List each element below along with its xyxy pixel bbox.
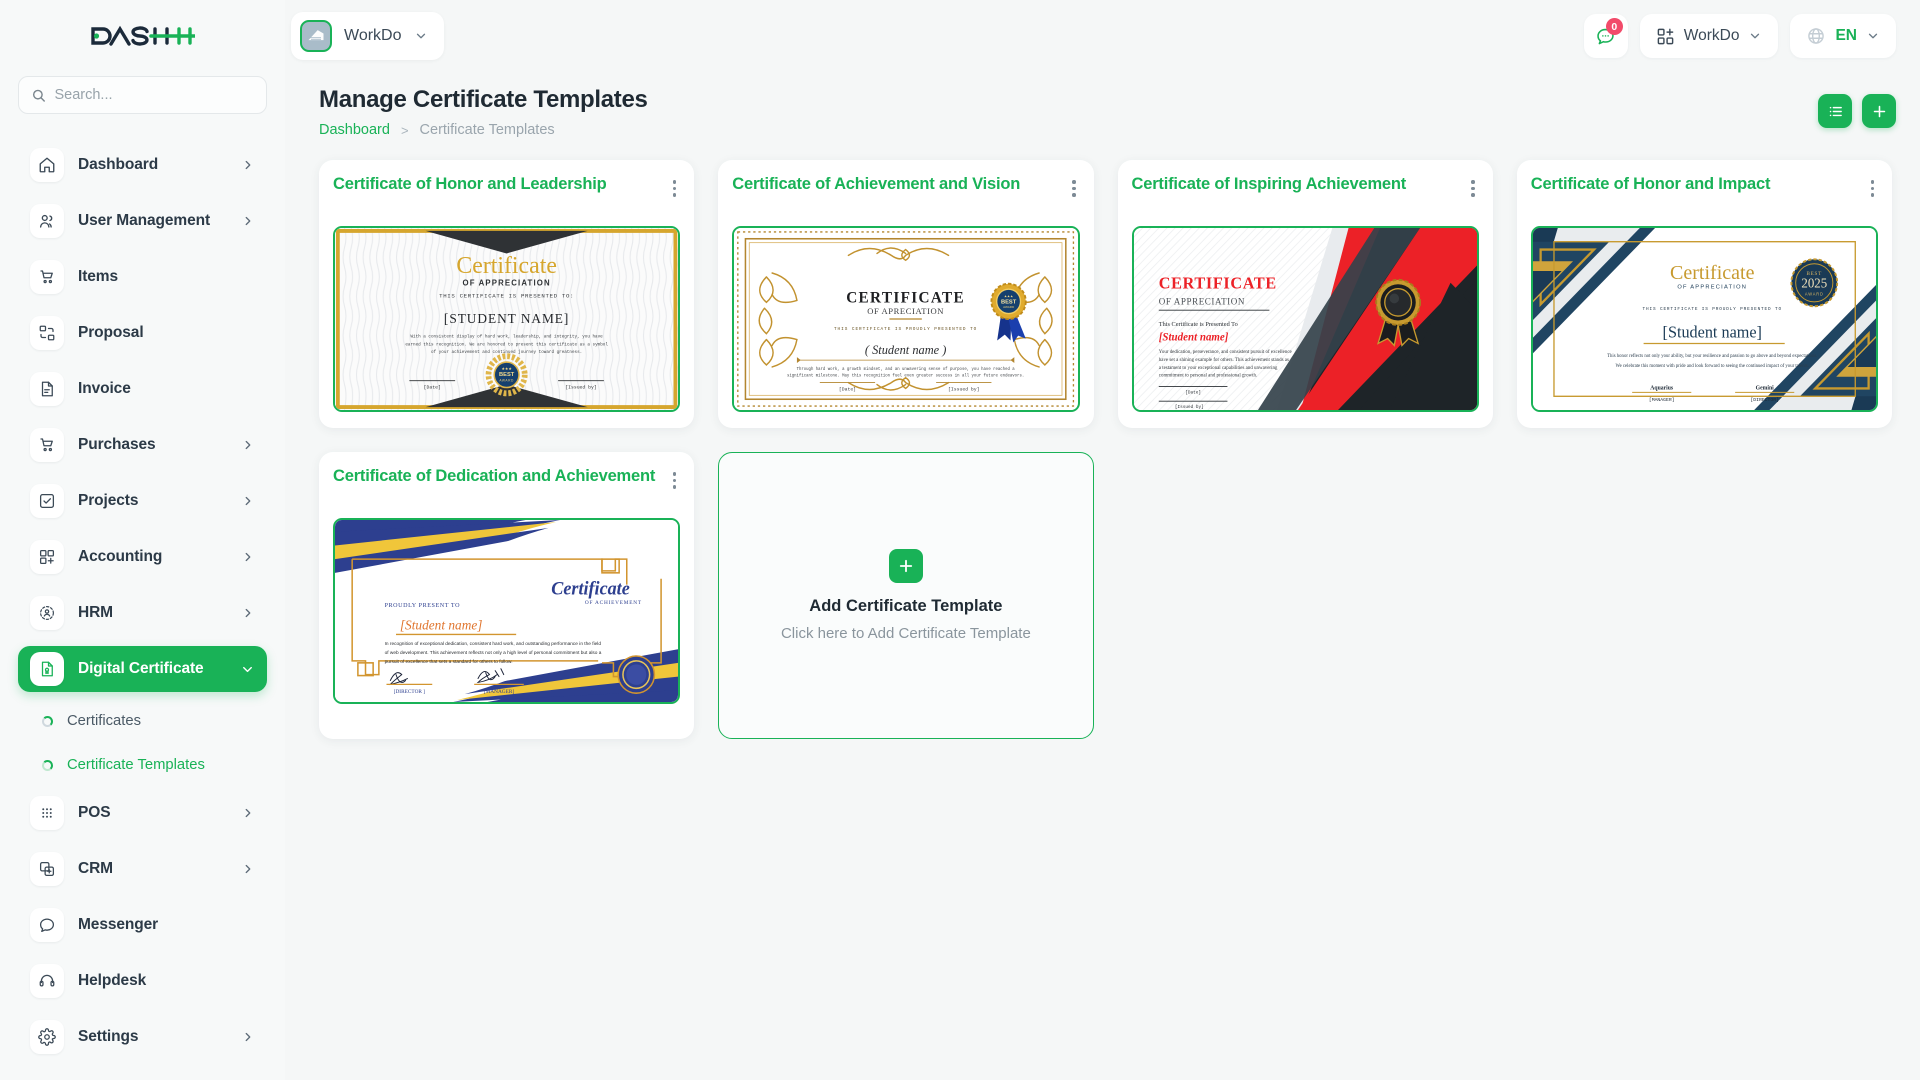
svg-text:[Issued by]: [Issued by] bbox=[565, 384, 596, 390]
page-header: Manage Certificate Templates Dashboard >… bbox=[285, 72, 1920, 138]
svg-text:CERTIFICATE: CERTIFICATE bbox=[846, 289, 965, 306]
svg-text:[Student name]: [Student name] bbox=[400, 617, 483, 632]
company-switcher[interactable]: WorkDo bbox=[291, 12, 444, 60]
svg-text:[Date]: [Date] bbox=[424, 384, 441, 390]
chevron-down-icon bbox=[1866, 29, 1880, 43]
sidebar-item-user-management[interactable]: User Management bbox=[18, 198, 267, 244]
sidebar-item-messenger[interactable]: Messenger bbox=[18, 902, 267, 948]
svg-text:of web development. This achie: of web development. This achievement ref… bbox=[385, 650, 602, 656]
chevron-right-icon bbox=[241, 438, 255, 452]
svg-text:of your achievement and contin: of your achievement and continued journe… bbox=[431, 350, 582, 355]
sidebar-item-accounting[interactable]: Accounting bbox=[18, 534, 267, 580]
svg-text:pursuit of excellence that set: pursuit of excellence that sets a standa… bbox=[385, 659, 513, 665]
company-avatar-icon bbox=[300, 20, 332, 52]
svg-text:With a consistent display of h: With a consistent display of hard work, … bbox=[410, 335, 603, 340]
sidebar-item-label: Purchases bbox=[78, 436, 156, 454]
svg-text:2025: 2025 bbox=[1801, 276, 1827, 291]
sidebar-item-hrm[interactable]: HRM bbox=[18, 590, 267, 636]
svg-text:BEST: BEST bbox=[499, 372, 515, 378]
add-card-subtitle: Click here to Add Certificate Template bbox=[781, 625, 1031, 642]
sidebar-item-digital-certificate[interactable]: Digital Certificate bbox=[18, 646, 267, 692]
svg-text:[STUDENT NAME]: [STUDENT NAME] bbox=[444, 311, 569, 326]
search-box[interactable] bbox=[18, 76, 267, 114]
sidebar-item-crm[interactable]: CRM bbox=[18, 846, 267, 892]
svg-text:commitment to personal and pro: commitment to personal and professional … bbox=[1158, 374, 1256, 379]
svg-text:AWARD: AWARD bbox=[1003, 305, 1015, 309]
company-name: WorkDo bbox=[344, 27, 402, 45]
users-icon bbox=[30, 204, 64, 238]
chevron-down-icon bbox=[240, 662, 255, 677]
svg-text:OF APPRECIATION: OF APPRECIATION bbox=[462, 279, 550, 288]
sidebar-item-purchases[interactable]: Purchases bbox=[18, 422, 267, 468]
add-button[interactable] bbox=[1862, 94, 1896, 128]
svg-text:THIS CERTIFICATE IS PROUDLY PR: THIS CERTIFICATE IS PROUDLY PRESENTED TO bbox=[1642, 306, 1781, 312]
certificate-artwork-dedication-achievement: Certificate OF ACHIEVEMENT PROUDLY PRESE… bbox=[335, 520, 678, 702]
card-title: Certificate of Achievement and Vision bbox=[732, 174, 1060, 195]
sidebar-item-proposal[interactable]: Proposal bbox=[18, 310, 267, 356]
page-title: Manage Certificate Templates bbox=[319, 86, 648, 114]
svg-text:★★★: ★★★ bbox=[501, 367, 512, 371]
dots-grid-icon bbox=[30, 796, 64, 830]
hrm-icon bbox=[30, 596, 64, 630]
chevron-down-icon bbox=[414, 29, 428, 43]
certificate-preview[interactable]: Certificate OF ACHIEVEMENT PROUDLY PRESE… bbox=[333, 518, 680, 704]
svg-text:( Student name ): ( Student name ) bbox=[865, 343, 947, 357]
cart-icon bbox=[30, 428, 64, 462]
certificate-template-card[interactable]: Certificate of Honor and Impact bbox=[1517, 160, 1892, 428]
card-menu-button[interactable] bbox=[1867, 174, 1879, 203]
card-header: Certificate of Dedication and Achievemen… bbox=[333, 466, 680, 508]
messages-button[interactable]: 0 bbox=[1584, 14, 1628, 58]
sidebar-item-items[interactable]: Items bbox=[18, 254, 267, 300]
sidebar-subitem-certificates[interactable]: Certificates bbox=[18, 702, 267, 740]
svg-text:In recognition of exceptional: In recognition of exceptional dedication… bbox=[385, 641, 602, 647]
svg-text:CERTIFICATE: CERTIFICATE bbox=[1158, 273, 1276, 292]
proposal-icon bbox=[30, 316, 64, 350]
certificate-template-card[interactable]: Certificate of Inspiring Achievement bbox=[1118, 160, 1493, 428]
topbar: WorkDo 0 WorkDo bbox=[285, 0, 1920, 72]
card-header: Certificate of Achievement and Vision bbox=[732, 174, 1079, 216]
chevron-right-icon bbox=[241, 214, 255, 228]
certificate-artwork-inspiring-achievement: CERTIFICATE OF APPRECIATION This Certifi… bbox=[1134, 228, 1477, 410]
svg-text:[DIRECTOR ]: [DIRECTOR ] bbox=[394, 689, 426, 695]
svg-text:Gemini: Gemini bbox=[1755, 385, 1773, 391]
svg-text:Certificate: Certificate bbox=[456, 252, 557, 279]
sidebar-nav: Dashboard User Management Items bbox=[18, 142, 267, 1070]
sidebar-item-label: Proposal bbox=[78, 324, 144, 342]
svg-text:Certificate: Certificate bbox=[551, 578, 629, 598]
svg-text:AWARD: AWARD bbox=[1805, 291, 1824, 296]
svg-text:PROUDLY PRESENT TO: PROUDLY PRESENT TO bbox=[385, 602, 460, 609]
globe-icon bbox=[1806, 26, 1826, 46]
svg-text:AWARD: AWARD bbox=[499, 379, 514, 383]
breadcrumb-current: Certificate Templates bbox=[420, 122, 555, 138]
svg-text:[MANAGER]: [MANAGER] bbox=[484, 689, 515, 695]
sidebar-item-label: POS bbox=[78, 804, 110, 822]
svg-text:[Student name]: [Student name] bbox=[1662, 322, 1761, 341]
sidebar-item-invoice[interactable]: Invoice bbox=[18, 366, 267, 412]
svg-text:THIS CERTIFICATE IS PROUDLY PR: THIS CERTIFICATE IS PROUDLY PRESENTED TO bbox=[834, 326, 977, 332]
certificate-template-card[interactable]: Certificate of Achievement and Vision bbox=[718, 160, 1093, 428]
chevron-down-icon bbox=[1748, 29, 1762, 43]
bullet-icon bbox=[42, 716, 53, 727]
sidebar-item-pos[interactable]: POS bbox=[18, 790, 267, 836]
sidebar-item-projects[interactable]: Projects bbox=[18, 478, 267, 524]
certificate-artwork-achievement-vision: CERTIFICATE OF APRECIATION THIS CERTIFIC… bbox=[734, 228, 1077, 410]
card-title: Certificate of Honor and Impact bbox=[1531, 174, 1859, 195]
sidebar-item-label: Items bbox=[78, 268, 118, 286]
sidebar-subitem-certificate-templates[interactable]: Certificate Templates bbox=[18, 746, 267, 784]
svg-text:Your dedication, perseverance,: Your dedication, perseverance, and consi… bbox=[1158, 350, 1292, 355]
plus-icon bbox=[889, 549, 923, 583]
sidebar-item-label: Dashboard bbox=[78, 156, 158, 174]
language-switcher-button[interactable]: EN bbox=[1790, 14, 1896, 58]
svg-text:This honor reflects not only y: This honor reflects not only your abilit… bbox=[1607, 354, 1817, 359]
card-title: Certificate of Honor and Leadership bbox=[333, 174, 661, 195]
svg-text:a testament to your exceptiona: a testament to your exceptional capabili… bbox=[1158, 366, 1277, 371]
list-view-button[interactable] bbox=[1818, 94, 1852, 128]
svg-text:Certificate: Certificate bbox=[1670, 262, 1754, 284]
sidebar: Dashboard User Management Items bbox=[0, 0, 285, 1080]
sidebar-item-label: Accounting bbox=[78, 548, 162, 566]
add-card-title: Add Certificate Template bbox=[809, 597, 1002, 616]
page-header-text: Manage Certificate Templates Dashboard >… bbox=[319, 86, 648, 138]
card-menu-button[interactable] bbox=[669, 174, 681, 203]
bullet-icon bbox=[42, 760, 53, 771]
crm-icon bbox=[30, 852, 64, 886]
svg-text:[MANAGER]: [MANAGER] bbox=[1649, 397, 1675, 403]
chevron-right-icon bbox=[241, 1030, 255, 1044]
svg-text:[Date]: [Date] bbox=[1185, 389, 1201, 395]
card-header: Certificate of Honor and Leadership bbox=[333, 174, 680, 216]
card-menu-button[interactable] bbox=[669, 466, 681, 495]
card-menu-button[interactable] bbox=[1467, 174, 1479, 203]
add-certificate-template-card[interactable]: Add Certificate Template Click here to A… bbox=[718, 452, 1093, 739]
certificate-icon bbox=[30, 652, 64, 686]
card-menu-button[interactable] bbox=[1068, 174, 1080, 203]
svg-text:[Issued by]: [Issued by] bbox=[948, 386, 979, 392]
certificate-artwork-honor-impact: Certificate OF APPRECIATION THIS CERTIFI… bbox=[1533, 228, 1876, 410]
sidebar-item-settings[interactable]: Settings bbox=[18, 1014, 267, 1060]
gear-icon bbox=[30, 1020, 64, 1054]
app-switcher-label: WorkDo bbox=[1684, 27, 1740, 45]
app-switcher-button[interactable]: WorkDo bbox=[1640, 14, 1779, 58]
svg-text:We celebrate this moment with: We celebrate this moment with pride and … bbox=[1615, 364, 1808, 369]
sidebar-item-label: CRM bbox=[78, 860, 113, 878]
app-root: Dashboard User Management Items bbox=[0, 0, 1920, 1080]
certificate-preview[interactable]: Certificate OF APPRECIATION THIS CERTIFI… bbox=[1531, 226, 1878, 412]
cart-icon bbox=[30, 260, 64, 294]
sidebar-item-label: Settings bbox=[78, 1028, 138, 1046]
svg-text:Through hard work, a growth mi: Through hard work, a growth mindset, and… bbox=[797, 367, 1016, 372]
svg-text:OF APRECIATION: OF APRECIATION bbox=[867, 306, 944, 316]
breadcrumb-dashboard[interactable]: Dashboard bbox=[319, 122, 390, 138]
certificate-preview[interactable]: CERTIFICATE OF APRECIATION THIS CERTIFIC… bbox=[732, 226, 1079, 412]
svg-text:[Student name]: [Student name] bbox=[1158, 331, 1228, 343]
sidebar-subitem-label: Certificate Templates bbox=[67, 757, 205, 773]
certificate-artwork-honor-leadership: Certificate OF APPRECIATION THIS CERTIFI… bbox=[335, 228, 678, 410]
svg-text:OF APPRECIATION: OF APPRECIATION bbox=[1158, 296, 1244, 306]
svg-text:OF ACHIEVEMENT: OF ACHIEVEMENT bbox=[585, 600, 642, 606]
svg-text:earned this recognition. We ar: earned this recognition. We are honored … bbox=[405, 342, 608, 347]
main-area: WorkDo 0 WorkDo bbox=[285, 0, 1920, 1080]
svg-text:significant milestone. May thi: significant milestone. May this recognit… bbox=[787, 374, 1024, 379]
breadcrumb: Dashboard > Certificate Templates bbox=[319, 122, 648, 138]
grid-plus-icon bbox=[30, 540, 64, 574]
chevron-right-icon bbox=[241, 158, 255, 172]
svg-text:Aquarius: Aquarius bbox=[1650, 385, 1674, 391]
list-icon bbox=[1827, 103, 1844, 120]
svg-text:★★★: ★★★ bbox=[1004, 294, 1013, 298]
notification-badge: 0 bbox=[1606, 18, 1623, 35]
grid-plus-icon bbox=[1656, 27, 1675, 46]
chevron-right-icon bbox=[241, 806, 255, 820]
svg-text:have set a shining example for: have set a shining example for others. T… bbox=[1158, 358, 1288, 363]
svg-text:THIS CERTIFICATE IS PRESENTED: THIS CERTIFICATE IS PRESENTED TO: bbox=[439, 292, 574, 299]
certificate-preview[interactable]: CERTIFICATE OF APPRECIATION This Certifi… bbox=[1132, 226, 1479, 412]
breadcrumb-separator-icon: > bbox=[401, 123, 409, 138]
dash-logo-icon bbox=[91, 23, 195, 49]
svg-text:[Issued by]: [Issued by] bbox=[1174, 404, 1203, 410]
card-title: Certificate of Dedication and Achievemen… bbox=[333, 466, 661, 487]
chevron-right-icon bbox=[241, 550, 255, 564]
sidebar-item-label: User Management bbox=[78, 212, 210, 230]
card-title: Certificate of Inspiring Achievement bbox=[1132, 174, 1460, 195]
search-icon bbox=[32, 88, 45, 103]
sidebar-subitem-label: Certificates bbox=[67, 713, 141, 729]
sidebar-item-label: Helpdesk bbox=[78, 972, 146, 990]
chevron-right-icon bbox=[241, 862, 255, 876]
check-square-icon bbox=[30, 484, 64, 518]
invoice-icon bbox=[30, 372, 64, 406]
brand-logo[interactable] bbox=[18, 0, 267, 72]
svg-text:[DIRECTOR]: [DIRECTOR] bbox=[1750, 397, 1779, 403]
svg-text:[Date]: [Date] bbox=[839, 386, 856, 392]
chevron-right-icon bbox=[241, 606, 255, 620]
sidebar-item-label: Digital Certificate bbox=[78, 660, 204, 678]
svg-text:This Certificate is Presented: This Certificate is Presented To bbox=[1158, 321, 1237, 328]
sidebar-item-dashboard[interactable]: Dashboard bbox=[18, 142, 267, 188]
card-header: Certificate of Honor and Impact bbox=[1531, 174, 1878, 216]
plus-icon bbox=[1871, 103, 1888, 120]
sidebar-item-helpdesk[interactable]: Helpdesk bbox=[18, 958, 267, 1004]
home-icon bbox=[30, 148, 64, 182]
headset-icon bbox=[30, 964, 64, 998]
svg-text:OF APPRECIATION: OF APPRECIATION bbox=[1677, 285, 1747, 291]
chevron-right-icon bbox=[241, 494, 255, 508]
certificate-preview[interactable]: Certificate OF APPRECIATION THIS CERTIFI… bbox=[333, 226, 680, 412]
sidebar-item-label: Projects bbox=[78, 492, 138, 510]
chat-icon bbox=[30, 908, 64, 942]
language-label: EN bbox=[1835, 27, 1857, 45]
certificate-template-card[interactable]: Certificate of Honor and Leadership bbox=[319, 160, 694, 428]
sidebar-item-label: Invoice bbox=[78, 380, 131, 398]
card-header: Certificate of Inspiring Achievement bbox=[1132, 174, 1479, 216]
sidebar-item-label: HRM bbox=[78, 604, 113, 622]
certificate-template-grid: Certificate of Honor and Leadership bbox=[285, 138, 1920, 759]
search-input[interactable] bbox=[54, 87, 253, 103]
sidebar-item-label: Messenger bbox=[78, 916, 158, 934]
page-header-actions bbox=[1818, 86, 1896, 128]
certificate-template-card[interactable]: Certificate of Dedication and Achievemen… bbox=[319, 452, 694, 739]
